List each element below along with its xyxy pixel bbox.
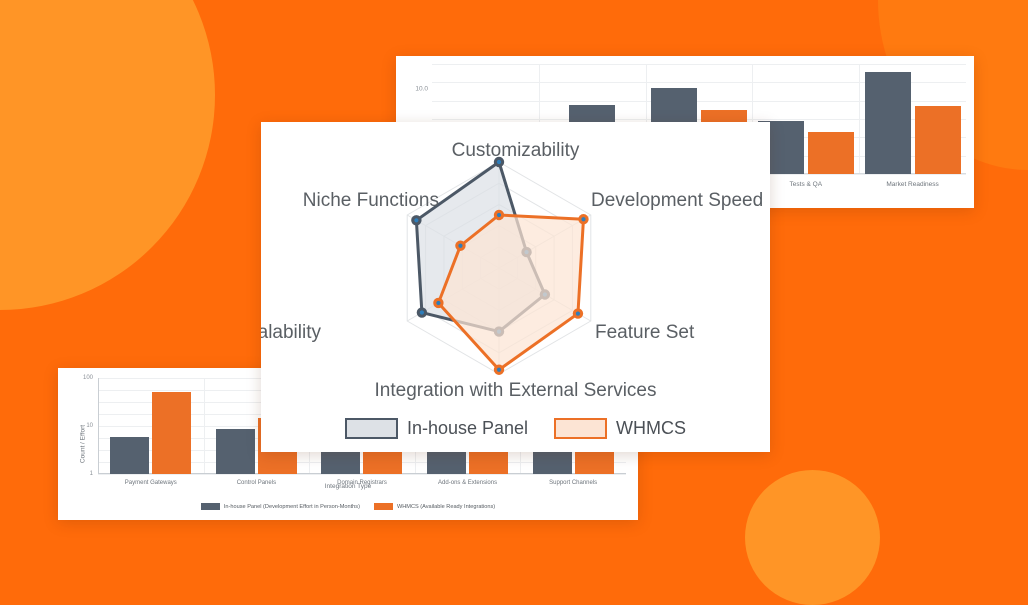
radar-chart-card: CustomizabilityDevelopment SpeedFeature … [261,122,770,452]
x-tick-label: Market Readiness [886,181,938,188]
legend-item: WHMCS (Available Ready Integrations) [374,503,495,510]
radar-data-point-center [497,368,501,372]
bar-whmcs [152,392,191,474]
bar-inhouse [865,72,911,174]
radar-axis-label: Scalability [261,322,321,344]
background-circle-bottom-right [745,470,880,605]
radar-chart-svg [261,122,770,422]
legend-label: WHMCS [616,418,686,439]
radar-axis-label: Development Speed [591,190,763,212]
radar-data-point-center [581,217,585,221]
bottom-left-y-axis-title: Count / Effort [80,425,87,463]
radar-legend: In-house PanelWHMCS [261,418,770,439]
legend-swatch [374,503,393,510]
legend-label: WHMCS (Available Ready Integrations) [397,504,495,510]
radar-axis-label: Feature Set [595,322,694,344]
y-tick-label: 10.0 [415,86,428,93]
radar-data-point-center [414,218,418,222]
legend-label: In-house Panel (Development Effort in Pe… [224,504,360,510]
legend-item: In-house Panel (Development Effort in Pe… [201,503,360,510]
bar-whmcs [808,132,854,174]
radar-data-point-center [458,244,462,248]
legend-label: In-house Panel [407,418,528,439]
y-tick-label: 1 [90,471,93,477]
radar-axis-label: Customizability [452,140,580,162]
radar-data-point-center [420,310,424,314]
legend-swatch [554,418,607,439]
radar-data-point-center [576,311,580,315]
bottom-left-legend: In-house Panel (Development Effort in Pe… [58,503,638,510]
legend-item: In-house Panel [345,418,528,439]
radar-axis-label: Niche Functions [303,190,439,212]
legend-swatch [201,503,220,510]
x-tick-label: Tests & QA [790,181,823,188]
bar-inhouse [216,429,255,474]
bar-whmcs [915,106,961,174]
radar-data-point-center [497,213,501,217]
bottom-left-x-axis-title: Integration Type [58,483,638,490]
bar-inhouse [110,437,149,474]
legend-item: WHMCS [554,418,686,439]
radar-data-point-center [436,301,440,305]
y-tick-label: 10 [86,423,93,429]
bar-group: Market Readiness [859,64,966,174]
radar-axis-label: Integration with External Services [375,380,657,402]
legend-swatch [345,418,398,439]
background-circle-top-left [0,0,215,310]
y-tick-label: 100 [83,375,93,381]
bar-group: Payment Gateways [98,378,204,474]
